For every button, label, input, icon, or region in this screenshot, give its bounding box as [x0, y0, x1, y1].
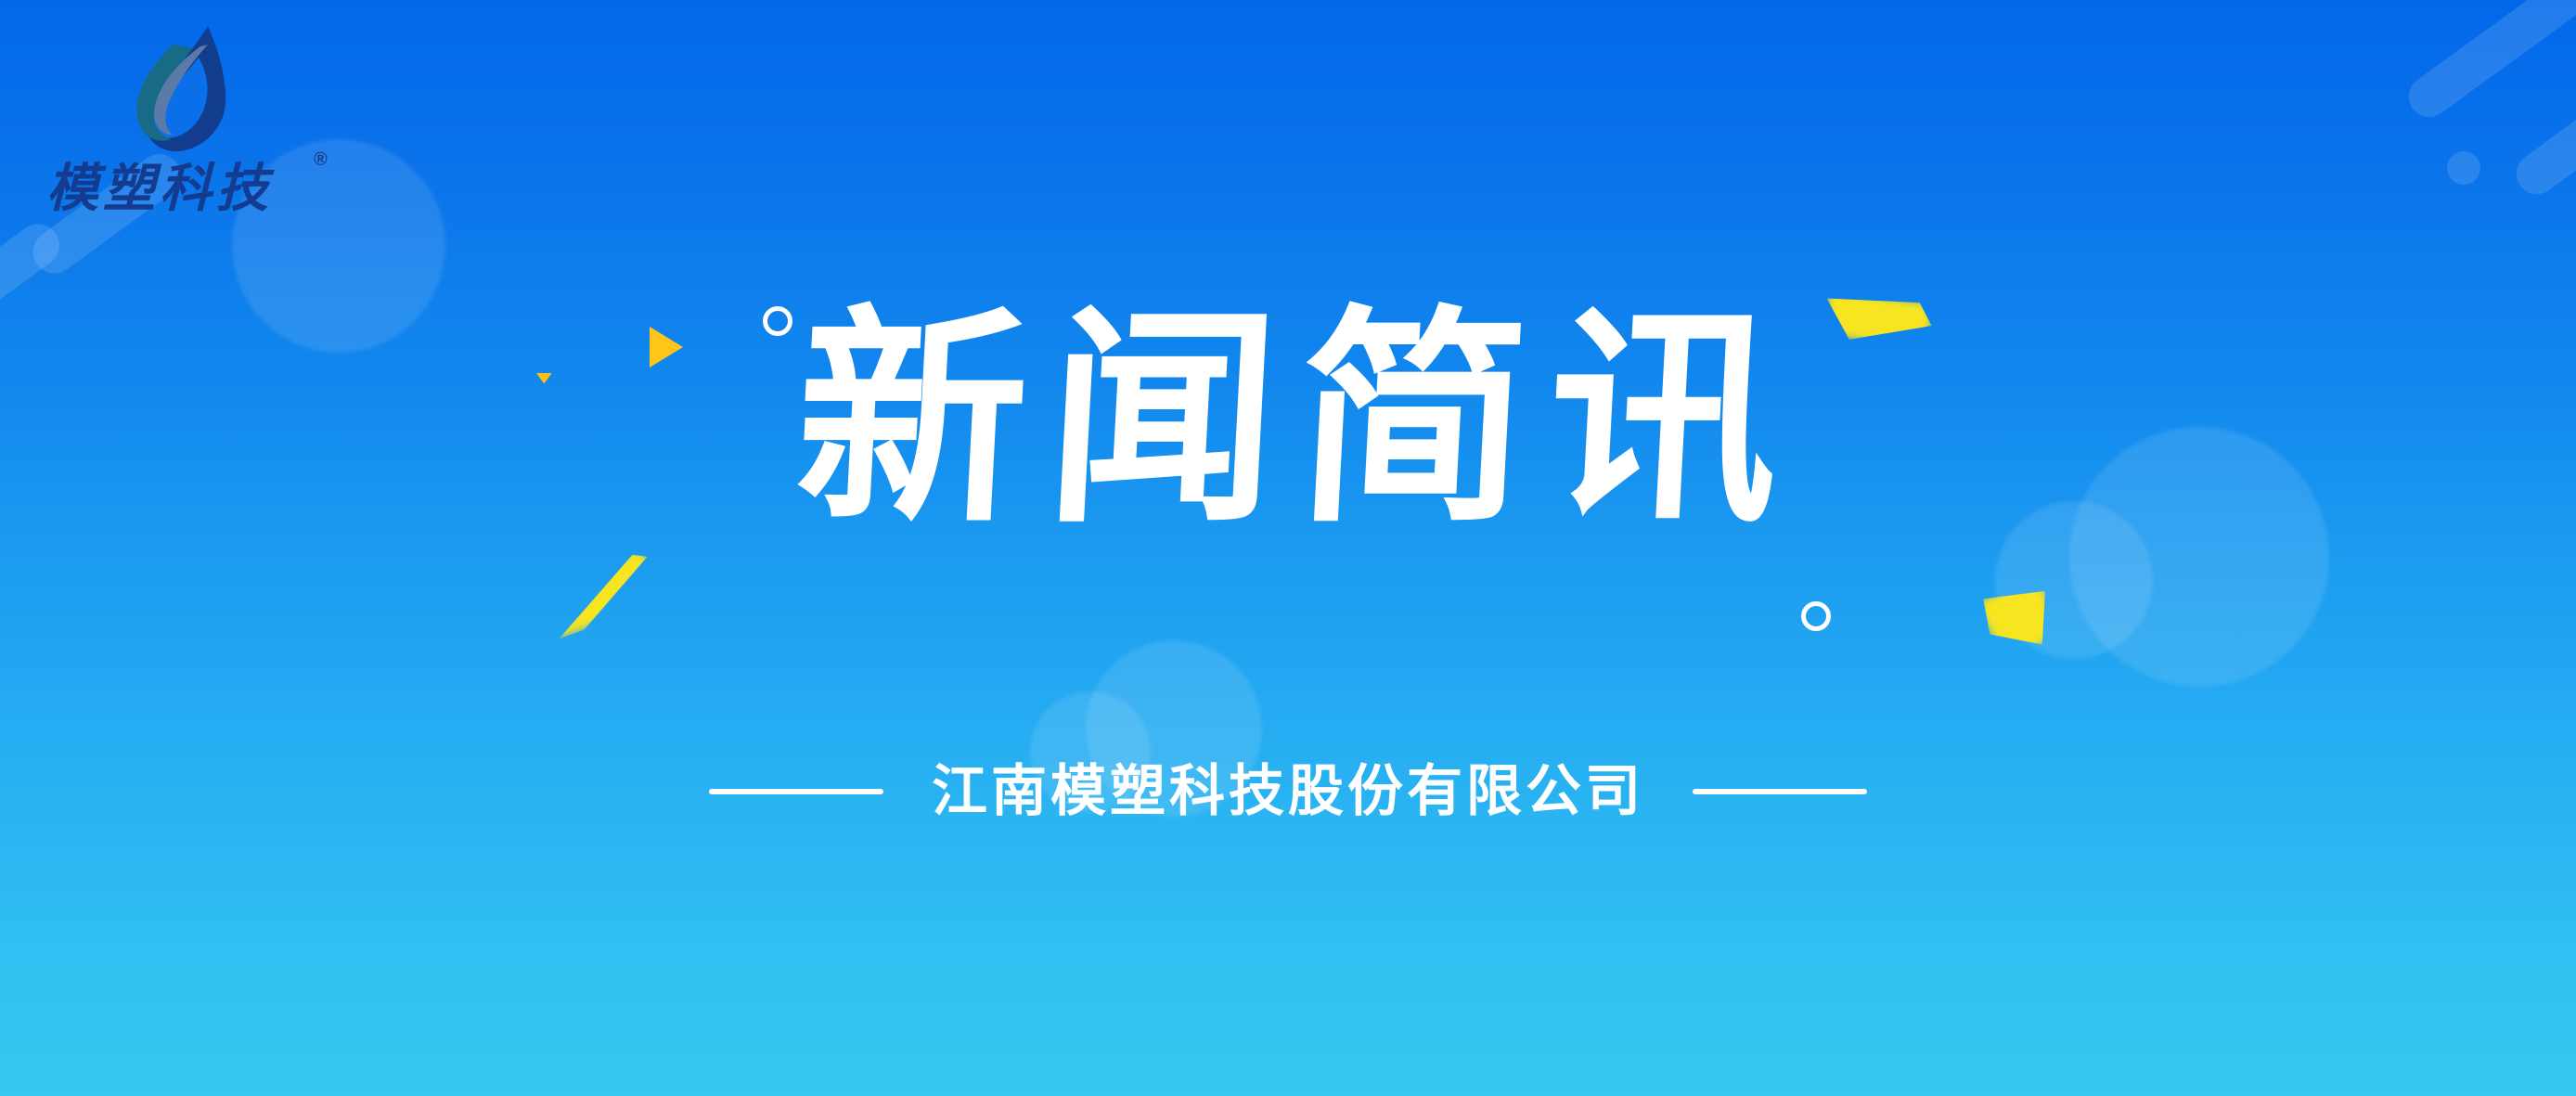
- rule-right: [1693, 789, 1867, 794]
- rule-left: [709, 789, 883, 794]
- droplet-swirl-mark-icon: [119, 20, 258, 160]
- title-container: 新闻简讯: [0, 295, 2576, 544]
- news-banner: 模塑科技 ® 新闻简讯 江南模塑科技股份有限公司: [0, 0, 2576, 1096]
- streak-top-right-short: [2508, 71, 2576, 201]
- streak-top-right-long: [2401, 0, 2576, 125]
- ribbon-left-yellow: [539, 547, 663, 638]
- company-logo[interactable]: 模塑科技 ®: [46, 20, 353, 215]
- ring-lower-right: [1801, 601, 1831, 631]
- subtitle-container: 江南模塑科技股份有限公司: [0, 747, 2576, 836]
- logo-wordmark: 模塑科技: [46, 160, 353, 217]
- streak-top-right-dot: [2447, 151, 2480, 185]
- company-name-subtitle: 江南模塑科技股份有限公司: [932, 747, 1644, 836]
- registered-trademark-icon: ®: [314, 150, 328, 169]
- page-title: 新闻简讯: [770, 295, 1806, 544]
